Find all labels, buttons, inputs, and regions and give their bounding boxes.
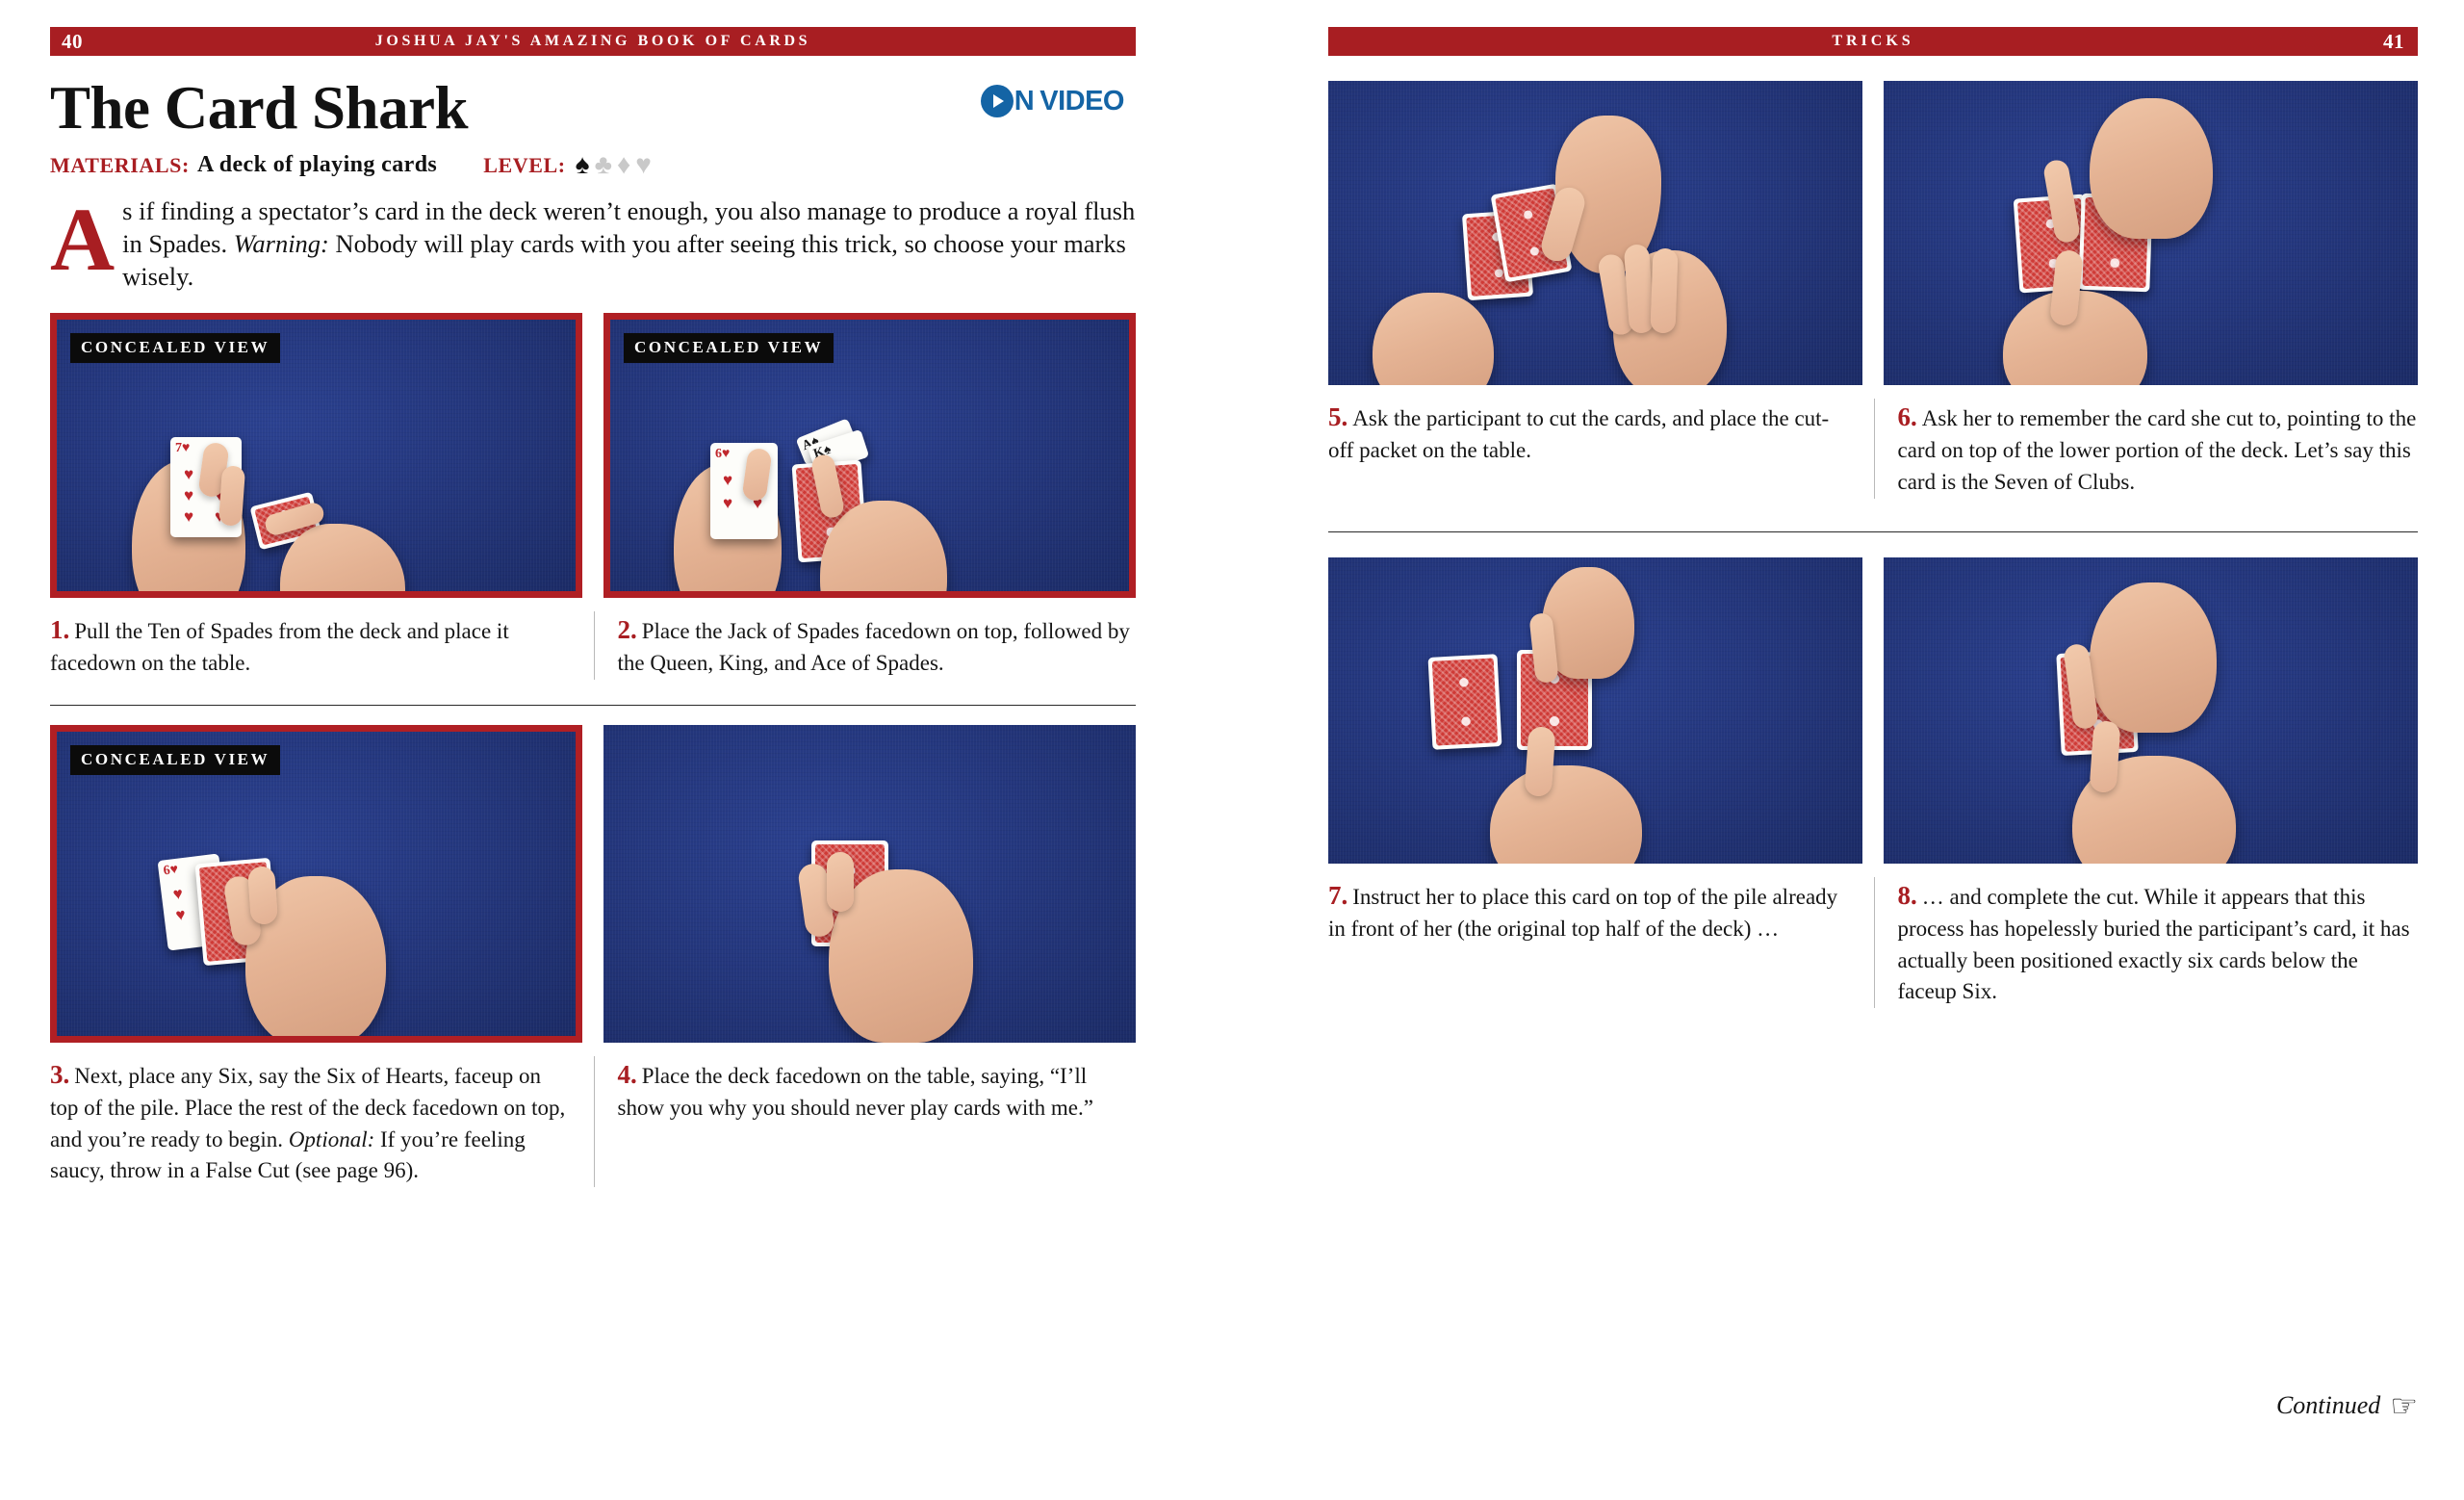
concealed-view-badge: CONCEALED VIEW <box>70 745 280 775</box>
materials-label: MATERIALS: <box>50 153 190 178</box>
continued-footer: Continued ☞ <box>2276 1390 2418 1421</box>
pointing-hand-icon: ☞ <box>2390 1390 2418 1421</box>
caption-row-4: 7.Instruct her to place this card on top… <box>1328 877 2418 1008</box>
step-2-text: Place the Jack of Spades facedown on top… <box>618 619 1130 675</box>
left-running-head-bar: 40 JOSHUA JAY'S AMAZING BOOK OF CARDS <box>50 27 1136 56</box>
step-6-photo <box>1884 81 2418 385</box>
step-3-photo: CONCEALED VIEW 6♥ ♥ ♥ ♥ ♥ <box>50 725 582 1043</box>
on-video-n: N <box>1014 86 1034 117</box>
photo-row-3 <box>1328 81 2418 385</box>
step-5-text: Ask the participant to cut the cards, an… <box>1328 406 1829 462</box>
step-7-cell <box>1328 557 1862 864</box>
left-page: 40 JOSHUA JAY'S AMAZING BOOK OF CARDS Th… <box>0 0 1232 1500</box>
step-4-text: Place the deck facedown on the table, sa… <box>618 1064 1093 1120</box>
intro-warning-label: Warning: <box>234 229 329 258</box>
caption-row-3: 5.Ask the participant to cut the cards, … <box>1328 399 2418 499</box>
right-running-head-bar: TRICKS 41 <box>1328 27 2418 56</box>
diamond-icon: ♦ <box>617 152 630 179</box>
step-5-cell <box>1328 81 1862 385</box>
materials-level-line: MATERIALS: A deck of playing cards LEVEL… <box>50 152 1136 179</box>
step-4-cell <box>603 725 1136 1043</box>
step-5-photo <box>1328 81 1862 385</box>
step-3-number: 3. <box>50 1060 69 1089</box>
step-5-caption: 5.Ask the participant to cut the cards, … <box>1328 399 1874 499</box>
continued-label: Continued <box>2276 1391 2380 1420</box>
photo-row-1: CONCEALED VIEW 7♥ ♥ ♥ ♥ ♥ ♥ ♥ ♥ <box>50 313 1136 598</box>
step-5-number: 5. <box>1328 402 1347 431</box>
book-spread: 40 JOSHUA JAY'S AMAZING BOOK OF CARDS Th… <box>0 0 2464 1500</box>
step-4-caption: 4.Place the deck facedown on the table, … <box>594 1056 1137 1187</box>
step-1-photo: CONCEALED VIEW 7♥ ♥ ♥ ♥ ♥ ♥ ♥ ♥ <box>50 313 582 598</box>
step-1-cell: CONCEALED VIEW 7♥ ♥ ♥ ♥ ♥ ♥ ♥ ♥ <box>50 313 582 598</box>
step-7-text: Instruct her to place this card on top o… <box>1328 885 1837 941</box>
right-page: TRICKS 41 <box>1232 0 2464 1500</box>
heart-icon: ♥ <box>635 152 652 179</box>
step-2-caption: 2.Place the Jack of Spades facedown on t… <box>594 611 1137 680</box>
on-video-badge[interactable]: N VIDEO <box>981 85 1124 117</box>
step-6-caption: 6.Ask her to remember the card she cut t… <box>1874 399 2419 499</box>
step-6-cell <box>1884 81 2418 385</box>
step-4-number: 4. <box>618 1060 637 1089</box>
concealed-view-badge: CONCEALED VIEW <box>70 333 280 363</box>
materials-value: A deck of playing cards <box>197 152 437 178</box>
step-1-number: 1. <box>50 615 69 644</box>
step-8-cell <box>1884 557 2418 864</box>
step-3-optional-label: Optional: <box>289 1127 374 1151</box>
step-1-text: Pull the Ten of Spades from the deck and… <box>50 619 509 675</box>
drop-cap: A <box>50 198 122 276</box>
photo-row-2: CONCEALED VIEW 6♥ ♥ ♥ ♥ ♥ <box>50 725 1136 1043</box>
level-suits: ♠ ♣ ♦ ♥ <box>576 152 652 179</box>
step-4-photo <box>603 725 1136 1043</box>
section-divider <box>1328 531 2418 532</box>
step-3-caption: 3.Next, place any Six, say the Six of He… <box>50 1056 594 1187</box>
step-7-photo <box>1328 557 1862 864</box>
photo-row-4 <box>1328 557 2418 864</box>
spade-icon: ♠ <box>576 152 590 179</box>
concealed-view-badge: CONCEALED VIEW <box>624 333 834 363</box>
step-8-photo <box>1884 557 2418 864</box>
step-2-photo: CONCEALED VIEW 6♥ ♥ ♥ ♥ ♥ A♠ <box>603 313 1136 598</box>
play-icon <box>981 85 1014 117</box>
step-2-number: 2. <box>618 615 637 644</box>
pile-in-front <box>1428 654 1502 750</box>
on-video-word: VIDEO <box>1039 86 1124 117</box>
right-running-head-title: TRICKS <box>1328 33 2418 50</box>
caption-row-2: 3.Next, place any Six, say the Six of He… <box>50 1056 1136 1187</box>
level-label: LEVEL: <box>483 153 566 178</box>
step-1-caption: 1.Pull the Ten of Spades from the deck a… <box>50 611 594 680</box>
step-6-text: Ask her to remember the card she cut to,… <box>1898 406 2417 494</box>
intro-paragraph: As if finding a spectator’s card in the … <box>50 194 1136 294</box>
step-7-number: 7. <box>1328 881 1347 910</box>
step-7-caption: 7.Instruct her to place this card on top… <box>1328 877 1874 1008</box>
step-6-number: 6. <box>1898 402 1917 431</box>
step-8-number: 8. <box>1898 881 1917 910</box>
step-2-cell: CONCEALED VIEW 6♥ ♥ ♥ ♥ ♥ A♠ <box>603 313 1136 598</box>
step-3-cell: CONCEALED VIEW 6♥ ♥ ♥ ♥ ♥ <box>50 725 582 1043</box>
club-icon: ♣ <box>595 152 612 179</box>
caption-row-1: 1.Pull the Ten of Spades from the deck a… <box>50 611 1136 680</box>
section-divider <box>50 705 1136 706</box>
left-running-head-title: JOSHUA JAY'S AMAZING BOOK OF CARDS <box>50 33 1136 50</box>
title-row: The Card Shark N VIDEO <box>50 77 1136 141</box>
step-8-caption: 8.… and complete the cut. While it appea… <box>1874 877 2419 1008</box>
step-8-text: … and complete the cut. While it appears… <box>1898 885 2410 1004</box>
page-title: The Card Shark <box>50 77 468 141</box>
